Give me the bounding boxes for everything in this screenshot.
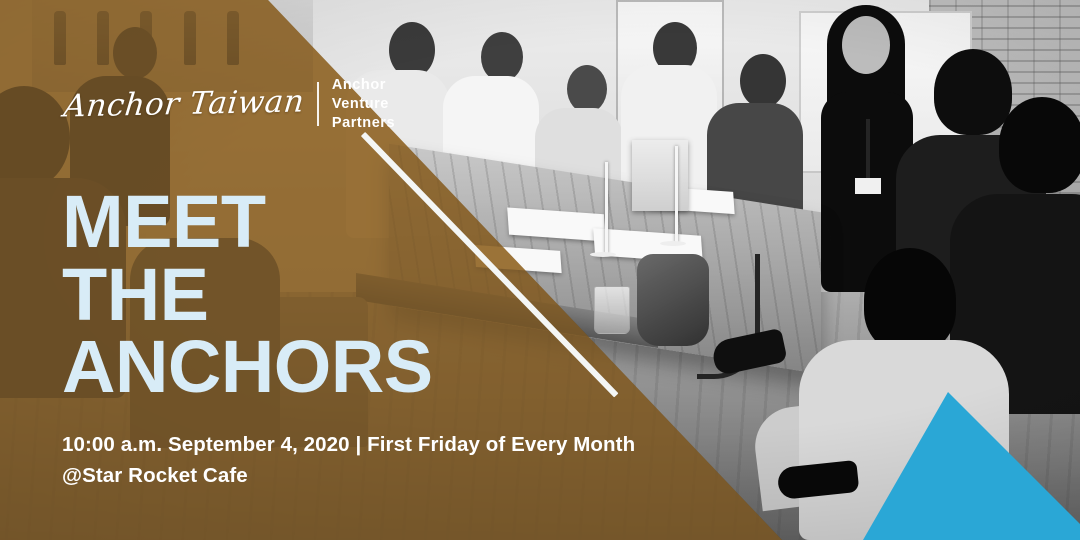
headline-line-3: ANCHORS (62, 331, 433, 404)
event-details: 10:00 a.m. September 4, 2020 | First Fri… (62, 429, 635, 491)
brand-logo: Anchor Taiwan Anchor Venture Partners (64, 76, 395, 133)
logo-script-wordmark: Anchor Taiwan (62, 84, 306, 125)
event-venue-line: @Star Rocket Cafe (62, 460, 635, 491)
logo-partner-line-2: Venture (332, 95, 395, 114)
headline-line-1: MEET (62, 186, 433, 259)
logo-partner-name: Anchor Venture Partners (332, 76, 395, 133)
event-datetime-line: 10:00 a.m. September 4, 2020 | First Fri… (62, 429, 635, 460)
logo-divider-rule (317, 82, 319, 126)
event-banner: Anchor Taiwan Anchor Venture Partners ME… (0, 0, 1080, 540)
page-title: MEET THE ANCHORS (62, 186, 433, 404)
logo-partner-line-3: Partners (332, 114, 395, 133)
headline-line-2: THE (62, 259, 433, 332)
logo-partner-line-1: Anchor (332, 76, 395, 95)
